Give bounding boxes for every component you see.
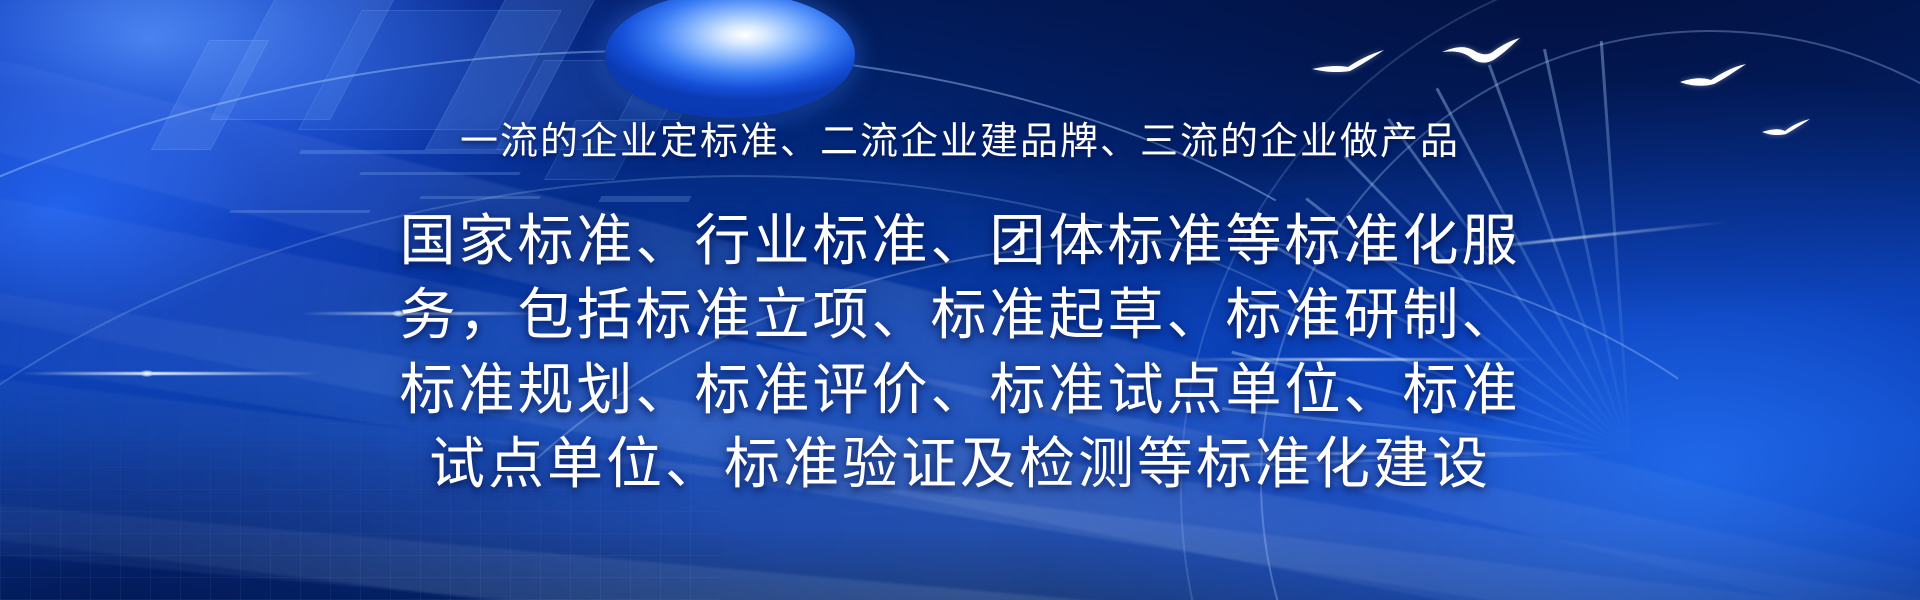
body-line: 国家标准、行业标准、团体标准等标准化服: [335, 204, 1585, 278]
body-line: 务，包括标准立项、标准起草、标准研制、: [335, 278, 1585, 352]
banner-content: 一流的企业定标准、二流企业建品牌、三流的企业做产品 国家标准、行业标准、团体标准…: [0, 0, 1920, 600]
body-line: 试点单位、标准验证及检测等标准化建设: [335, 427, 1585, 501]
banner-body-copy: 国家标准、行业标准、团体标准等标准化服 务，包括标准立项、标准起草、标准研制、 …: [335, 204, 1585, 502]
promo-banner: 一流的企业定标准、二流企业建品牌、三流的企业做产品 国家标准、行业标准、团体标准…: [0, 0, 1920, 600]
body-line: 标准规划、标准评价、标准试点单位、标准: [335, 353, 1585, 427]
banner-headline: 一流的企业定标准、二流企业建品牌、三流的企业做产品: [460, 120, 1460, 166]
